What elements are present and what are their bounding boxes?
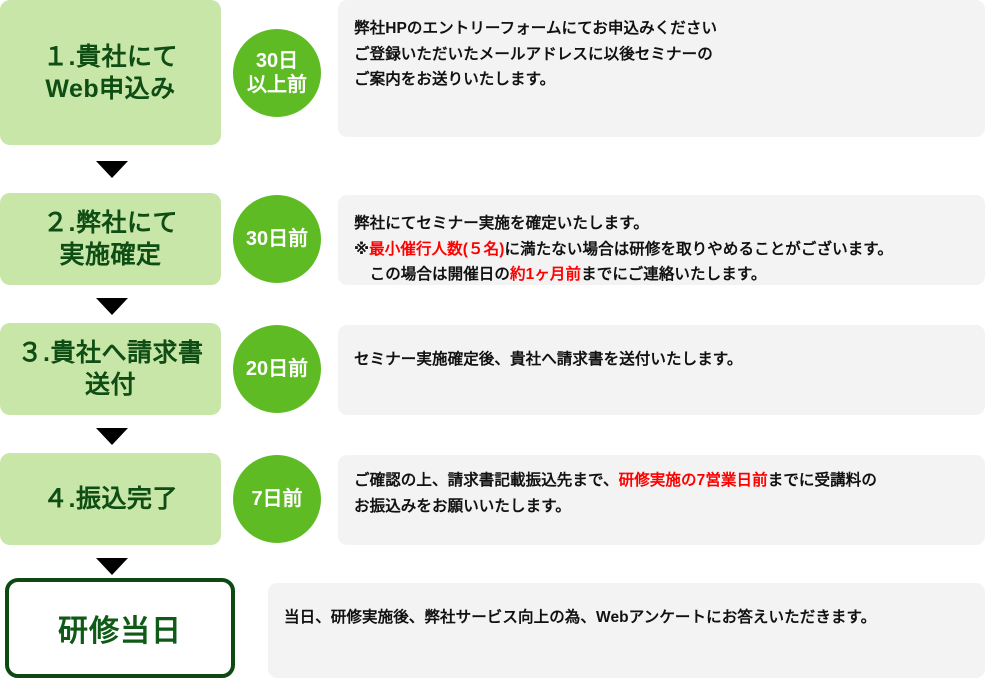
description-panel-1: 弊社HPのエントリーフォームにてお申込みくださいご登録いただいたメールアドレスに…	[338, 0, 985, 137]
step-box-3: ３.貴社へ請求書 送付	[0, 323, 221, 415]
timing-circle-1: 30日 以上前	[233, 29, 321, 117]
down-arrow-4	[96, 558, 128, 575]
timing-circle-4: 7日前	[233, 455, 321, 543]
flow-row-step-3: ３.貴社へ請求書 送付 20日前 セミナー実施確定後、貴社へ請求書を送付いたしま…	[0, 323, 1000, 415]
flow-row-step-4: ４.振込完了 7日前 ご確認の上、請求書記載振込先まで、研修実施の7営業日前まで…	[0, 453, 1000, 545]
step-box-2: ２.弊社にて 実施確定	[0, 193, 221, 285]
description-text-final: 当日、研修実施後、弊社サービス向上の為、Webアンケートにお答えいただきます。	[284, 605, 969, 631]
step-box-4-label: ４.振込完了	[43, 483, 178, 515]
description-panel-3: セミナー実施確定後、貴社へ請求書を送付いたします。	[338, 325, 985, 415]
timing-circle-1-label: 30日 以上前	[247, 49, 307, 97]
flow-row-step-1: １.貴社にて Web申込み 30日 以上前 弊社HPのエントリーフォームにてお申…	[0, 0, 1000, 145]
step-box-2-label: ２.弊社にて 実施確定	[43, 207, 178, 271]
step-box-1: １.貴社にて Web申込み	[0, 0, 221, 145]
down-arrow-1	[96, 161, 128, 178]
final-step-box: 研修当日	[5, 578, 235, 678]
step-box-3-label: ３.貴社へ請求書 送付	[18, 337, 204, 401]
description-text-3: セミナー実施確定後、貴社へ請求書を送付いたします。	[354, 347, 969, 373]
step-box-4: ４.振込完了	[0, 453, 221, 545]
description-panel-final: 当日、研修実施後、弊社サービス向上の為、Webアンケートにお答えいただきます。	[268, 583, 985, 678]
timing-circle-4-label: 7日前	[251, 487, 302, 511]
description-text-1: 弊社HPのエントリーフォームにてお申込みくださいご登録いただいたメールアドレスに…	[354, 16, 969, 93]
description-text-4: ご確認の上、請求書記載振込先まで、研修実施の7営業日前までに受講料のお振込みをお…	[354, 468, 969, 519]
timing-circle-2-label: 30日前	[246, 227, 308, 251]
flow-row-step-2: ２.弊社にて 実施確定 30日前 弊社にてセミナー実施を確定いたします。※最小催…	[0, 193, 1000, 285]
down-arrow-3	[96, 428, 128, 445]
timing-circle-2: 30日前	[233, 195, 321, 283]
timing-circle-3-label: 20日前	[246, 357, 308, 381]
down-arrow-2	[96, 298, 128, 315]
description-panel-2: 弊社にてセミナー実施を確定いたします。※最小催行人数(５名)に満たない場合は研修…	[338, 195, 985, 285]
description-text-2: 弊社にてセミナー実施を確定いたします。※最小催行人数(５名)に満たない場合は研修…	[354, 211, 969, 288]
final-step-box-label: 研修当日	[58, 606, 182, 650]
process-flow-diagram: １.貴社にて Web申込み 30日 以上前 弊社HPのエントリーフォームにてお申…	[0, 0, 1000, 686]
flow-row-step-final: 研修当日 当日、研修実施後、弊社サービス向上の為、Webアンケートにお答えいただ…	[0, 578, 1000, 678]
description-panel-4: ご確認の上、請求書記載振込先まで、研修実施の7営業日前までに受講料のお振込みをお…	[338, 455, 985, 545]
step-box-1-label: １.貴社にて Web申込み	[43, 41, 178, 105]
timing-circle-3: 20日前	[233, 325, 321, 413]
